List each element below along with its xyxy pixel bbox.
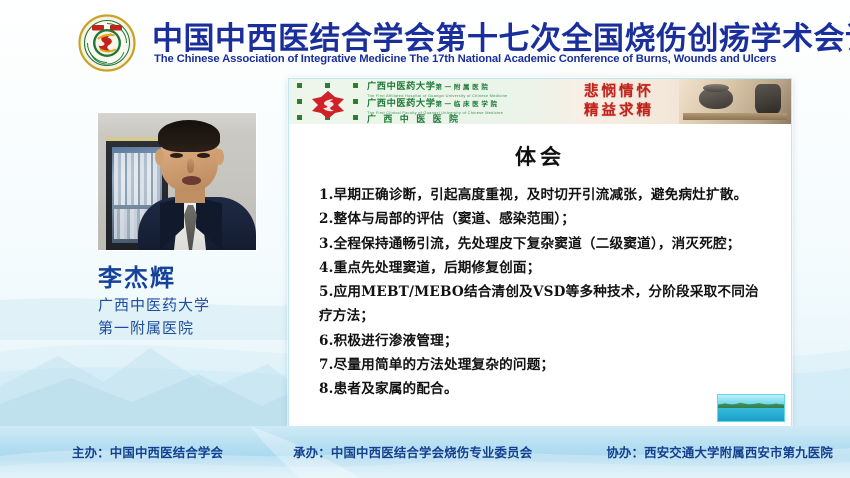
hospital-line1-suffix: 第 一 附 属 医 院 (436, 83, 489, 91)
speaker-organization-line2: 第一附属医院 (98, 317, 288, 338)
page-title: 中国中西医结合学会第十七次全国烧伤创疡学术会议 (152, 13, 850, 58)
list-item: 6.积极进行渗液管理； (319, 329, 771, 353)
speaker-name: 李杰辉 (98, 258, 273, 293)
presentation-screen: 中国中西医结合学会第十七次全国烧伤创疡学术会议 The Chinese Asso… (0, 0, 850, 478)
speaker-eyebrow-right (195, 146, 212, 150)
display-shelf (683, 113, 787, 120)
list-item: 1.早期正确诊断，引起高度重视，及时切开引流减张，避免病灶扩散。 (319, 183, 771, 207)
footer-co-organizer: 协办：西安交通大学附属西安市第九医院 (606, 443, 833, 461)
list-item: 2.整体与局部的评估（窦道、感染范围）； (319, 207, 771, 231)
speaker-ear-left (155, 149, 164, 165)
hospital-line2-suffix: 第 一 临 床 医 学 院 (436, 100, 498, 108)
speaker-eye-right (197, 153, 210, 158)
seascape-thumbnail (717, 394, 785, 422)
list-item: 7.尽量用简单的方法处理复杂的问题； (319, 353, 771, 377)
slide-bullet-list: 1.早期正确诊断，引起高度重视，及时切开引流减张，避免病灶扩散。 2.整体与局部… (319, 183, 771, 402)
slide-banner: 广西中医药大学第 一 附 属 医 院 The First Affiliated … (289, 79, 791, 124)
slide-panel[interactable]: 广西中医药大学第 一 附 属 医 院 The First Affiliated … (288, 78, 792, 429)
thumbnail-water (718, 408, 784, 421)
conference-header: 中国中西医结合学会第十七次全国烧伤创疡学术会议 The Chinese Asso… (0, 0, 850, 78)
banner-calligraphy: 悲悯情怀 精益求精 (561, 83, 677, 123)
bronze-vessel-lid (703, 84, 729, 92)
thumbnail-sky (718, 395, 784, 404)
slide-title: 体会 (289, 141, 791, 171)
speaker-organization-line1: 广西中医药大学 (98, 294, 288, 315)
hospital-line3-main: 广西中医医院 (367, 115, 567, 124)
hospital-line1-main: 广西中医药大学 (367, 81, 436, 92)
list-item: 8.患者及家属的配合。 (319, 377, 771, 401)
banner-artifact-photo (679, 79, 791, 124)
speaker-video-feed[interactable] (98, 113, 256, 250)
list-item: 5.应用MEBT/MEBO结合清创及VSD等多种技术，分阶段采取不同治疗方法； (319, 280, 771, 329)
list-item: 3.全程保持通畅引流，先处理皮下复杂窦道（二级窦道），消灭死腔； (319, 232, 771, 256)
speaker-ear-right (215, 149, 224, 165)
speaker-nose (187, 159, 194, 173)
hospital-name-block: 广西中医药大学第 一 附 属 医 院 The First Affiliated … (367, 81, 567, 123)
speaker-eye-left (170, 153, 183, 158)
ceramic-jar-icon (755, 84, 781, 115)
footer-organizer: 承办：中国中西医结合学会烧伤专业委员会 (293, 443, 532, 461)
speaker-mouth (182, 176, 201, 185)
books-row-upper (114, 153, 160, 205)
footer-host: 主办：中国中西医结合学会 (72, 443, 223, 461)
hospital-logo-icon (311, 90, 345, 120)
calligraphy-line-1: 悲悯情怀 (561, 83, 677, 102)
list-item: 4.重点先处理窦道，后期修复创面； (319, 256, 771, 280)
hospital-line2-main: 广西中医药大学 (367, 98, 436, 109)
calligraphy-line-2: 精益求精 (561, 102, 677, 121)
society-emblem-icon (78, 14, 136, 72)
speaker-eyebrow-left (168, 146, 185, 150)
conference-footer: 主办：中国中西医结合学会 承办：中国中西医结合学会烧伤专业委员会 协办：西安交通… (0, 426, 850, 478)
page-subtitle: The Chinese Association of Integrative M… (154, 53, 776, 65)
footer-organizers: 主办：中国中西医结合学会 承办：中国中西医结合学会烧伤专业委员会 协办：西安交通… (0, 441, 850, 463)
